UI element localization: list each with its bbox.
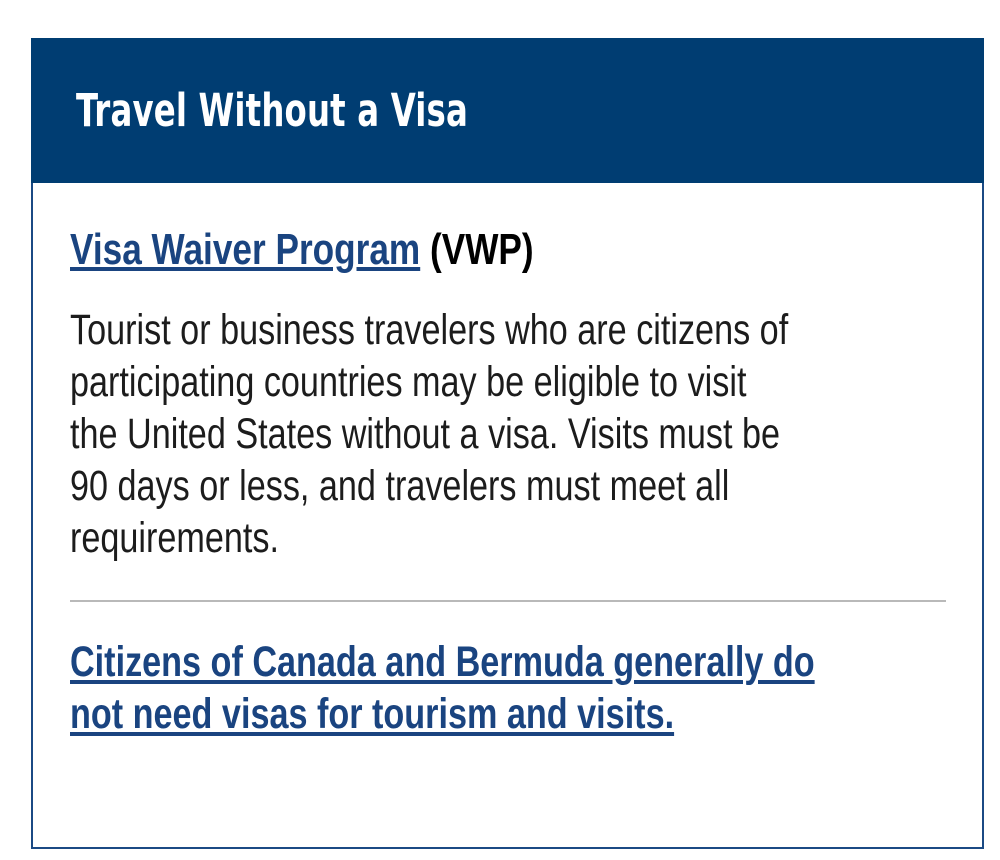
canada-bermuda-link-line: not need visas for tourism and visits. (70, 688, 766, 740)
card-header: Travel Without a Visa (31, 38, 984, 183)
canada-bermuda-link-block: Citizens of Canada and Bermuda generally… (70, 602, 946, 740)
paragraph-line: 90 days or less, and travelers must meet… (70, 460, 766, 512)
vwp-heading: Visa Waiver Program (VWP) (70, 183, 946, 274)
travel-without-visa-card: Travel Without a Visa Visa Waiver Progra… (31, 38, 984, 849)
paragraph-line: Tourist or business travelers who are ci… (70, 304, 766, 356)
paragraph-line: the United States without a visa. Visits… (70, 408, 766, 460)
card-body: Visa Waiver Program (VWP) Tourist or bus… (33, 183, 982, 740)
visa-waiver-program-link[interactable]: Visa Waiver Program (70, 225, 420, 274)
canada-bermuda-link-line: Citizens of Canada and Bermuda generally… (70, 636, 766, 688)
vwp-description-paragraph: Tourist or business travelers who are ci… (70, 274, 946, 564)
page-root: Travel Without a Visa Visa Waiver Progra… (0, 0, 1000, 860)
vwp-heading-inner: Visa Waiver Program (VWP) (70, 225, 534, 274)
vwp-abbreviation: (VWP) (420, 225, 533, 274)
paragraph-line: participating countries may be eligible … (70, 356, 766, 408)
paragraph-line: requirements. (70, 512, 766, 564)
canada-bermuda-link[interactable]: Citizens of Canada and Bermuda generally… (70, 636, 946, 740)
page-title: Travel Without a Visa (76, 86, 468, 136)
